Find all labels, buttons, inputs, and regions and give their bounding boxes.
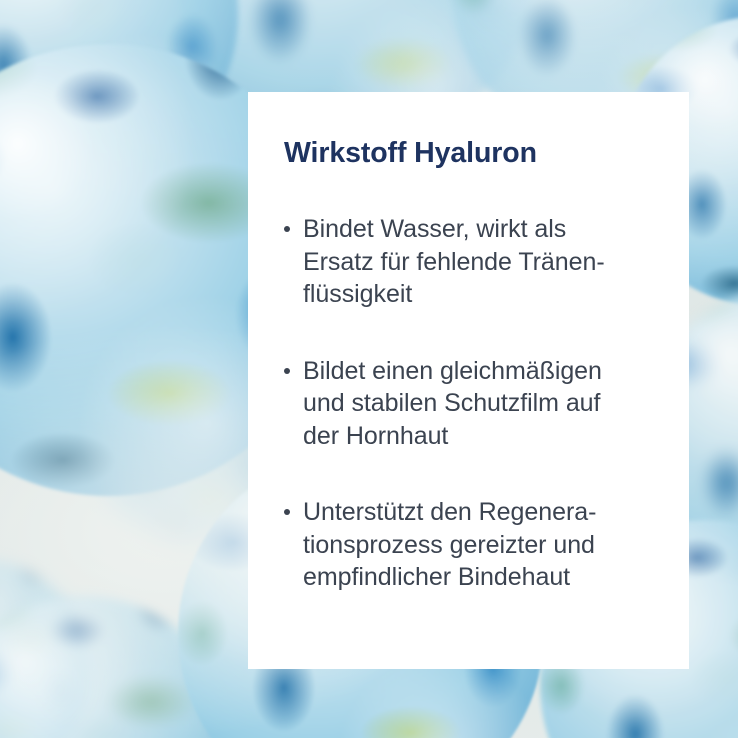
list-item-line: Bildet einen gleichmäßigen xyxy=(303,355,659,388)
list-item-text: Unterstützt den Regenera- tionsprozess g… xyxy=(303,496,659,594)
list-item-line: Unterstützt den Regenera- xyxy=(303,496,659,529)
slide-root: Wirkstoff Hyaluron Bindet Wasser, wirkt … xyxy=(0,0,738,738)
list-item: Bindet Wasser, wirkt als Ersatz für fehl… xyxy=(284,213,659,311)
bullet-dot-icon xyxy=(284,368,303,374)
list-item-line: Ersatz für fehlende Tränen- xyxy=(303,246,659,279)
list-item-line: Bindet Wasser, wirkt als xyxy=(303,213,659,246)
content-card: Wirkstoff Hyaluron Bindet Wasser, wirkt … xyxy=(248,92,689,669)
list-item-line: und stabilen Schutzfilm auf xyxy=(303,387,659,420)
list-item-line: empfindlicher Bindehaut xyxy=(303,561,659,594)
list-item-line: tionsprozess gereizter und xyxy=(303,529,659,562)
list-item: Unterstützt den Regenera- tionsprozess g… xyxy=(284,496,659,594)
bullet-dot-icon xyxy=(284,509,303,515)
page-title: Wirkstoff Hyaluron xyxy=(284,138,659,169)
list-item-line: flüssigkeit xyxy=(303,278,659,311)
list-item: Bildet einen gleichmäßigen und stabilen … xyxy=(284,355,659,453)
list-item-text: Bildet einen gleichmäßigen und stabilen … xyxy=(303,355,659,453)
benefit-list: Bindet Wasser, wirkt als Ersatz für fehl… xyxy=(284,213,659,594)
list-item-text: Bindet Wasser, wirkt als Ersatz für fehl… xyxy=(303,213,659,311)
list-item-line: der Hornhaut xyxy=(303,420,659,453)
bullet-dot-icon xyxy=(284,226,303,232)
